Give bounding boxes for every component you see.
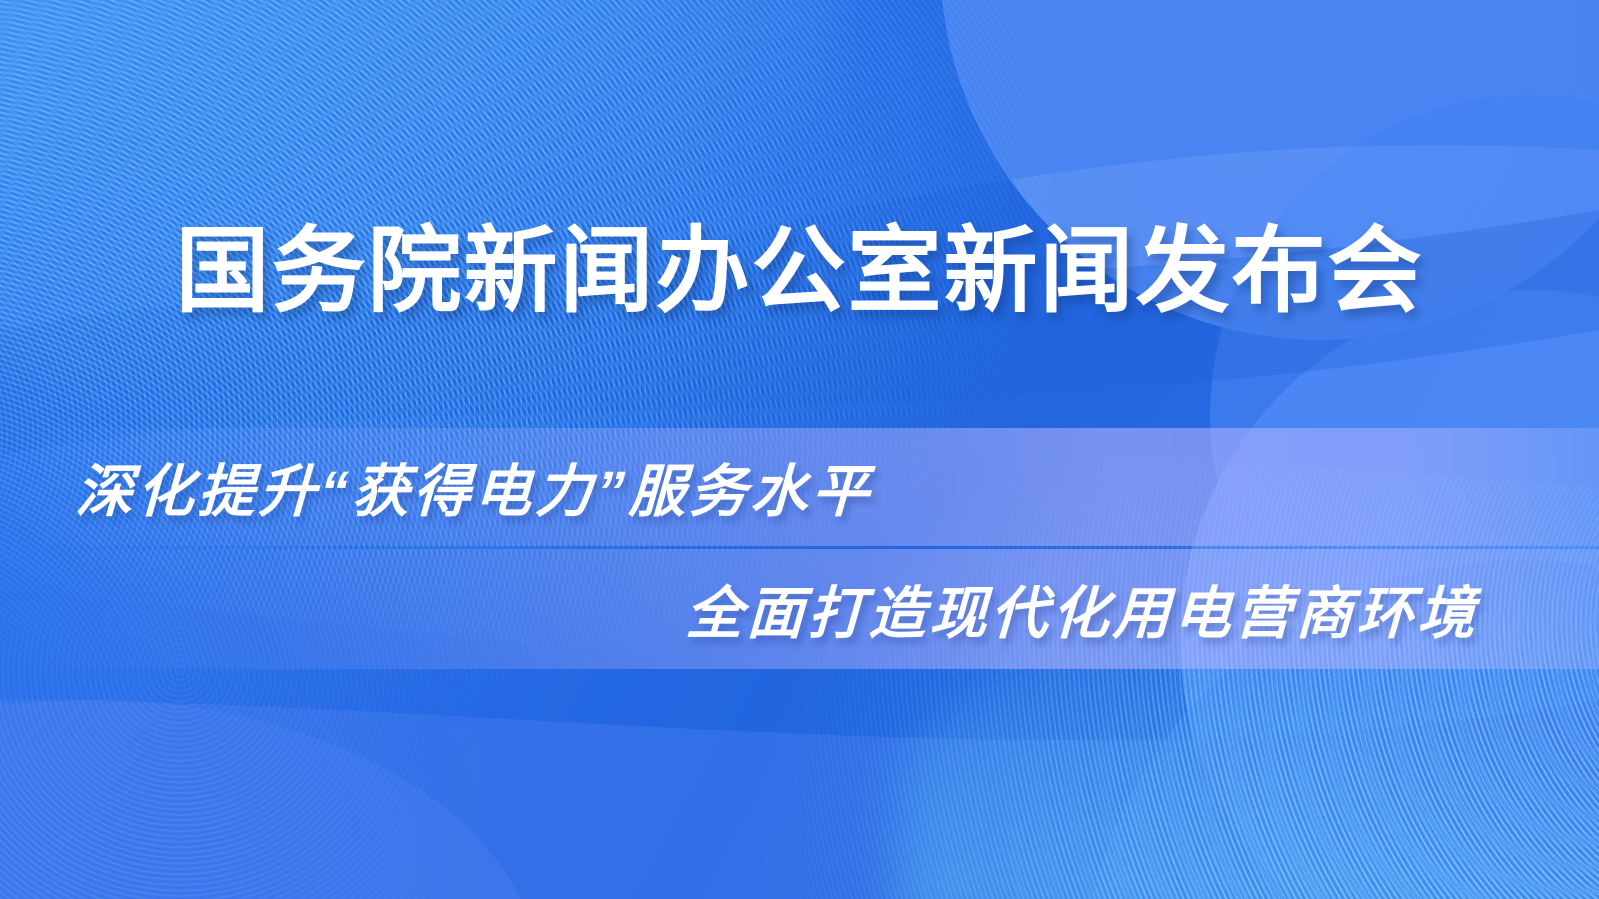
subtitle-line-two: 全面打造现代化用电营商环境 xyxy=(685,568,1481,650)
subtitle-band-first: 深化提升“获得电力”服务水平 xyxy=(0,428,1599,546)
subtitle-line-one: 深化提升“获得电力”服务水平 xyxy=(75,446,875,528)
page-title: 国务院新闻办公室新闻发布会 xyxy=(175,222,1423,321)
poster-canvas: 国务院新闻办公室新闻发布会 深化提升“获得电力”服务水平 全面打造现代化用电营商… xyxy=(0,0,1599,899)
subtitle-band-second: 全面打造现代化用电营商环境 xyxy=(0,549,1599,669)
headline-container: 国务院新闻办公室新闻发布会 xyxy=(0,222,1599,321)
